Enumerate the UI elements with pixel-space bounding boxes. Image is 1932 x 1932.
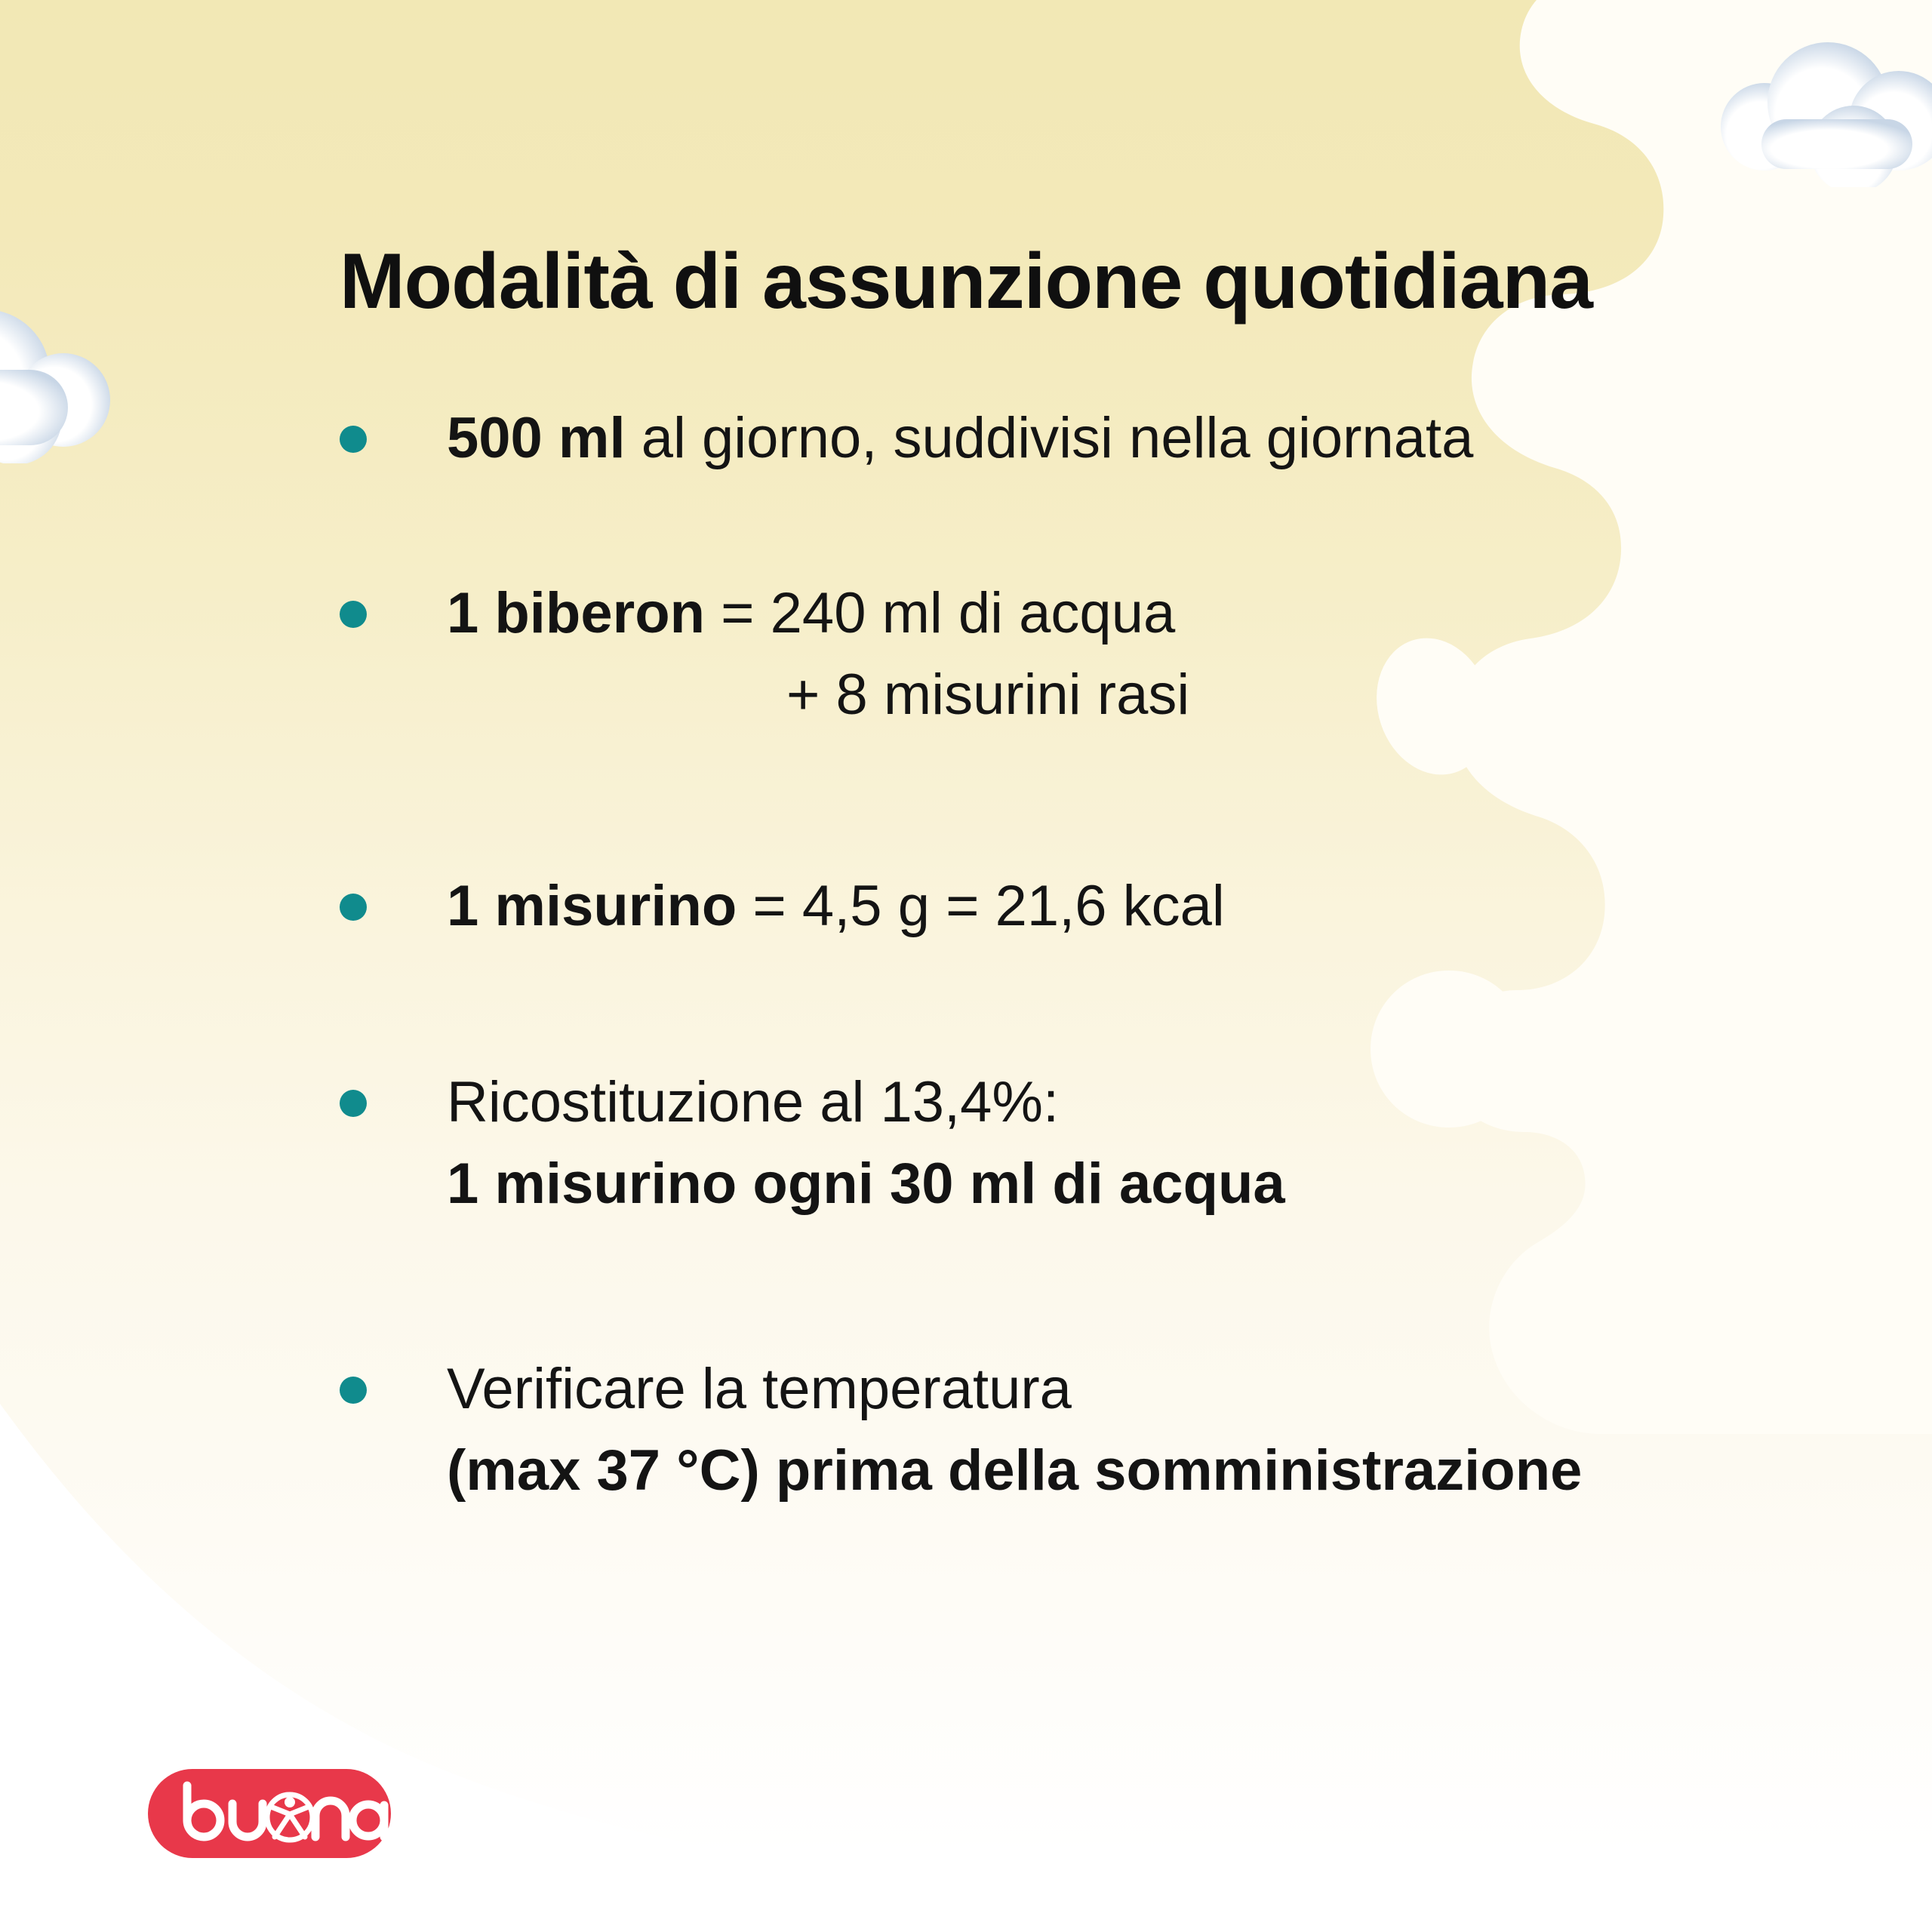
- list-item-text: Verificare la temperatura (max 37 °C) pr…: [447, 1358, 1849, 1502]
- list-item: 1 misurino = 4,5 g = 21,6 kcal: [340, 875, 1849, 937]
- poster-canvas: Modalità di assunzione quotidiana 500 ml…: [0, 0, 1932, 1932]
- list-item-rest: = 4,5 g = 21,6 kcal: [737, 874, 1224, 938]
- list-item: 1 biberon = 240 ml di acqua + 8 misurini…: [340, 583, 1849, 726]
- bullet-dot-icon: [340, 1377, 367, 1404]
- list-item-rest: Verificare la temperatura: [447, 1357, 1072, 1421]
- cloud-icon: [1665, 36, 1932, 187]
- list-item-rest: al giorno, suddivisi nella giornata: [626, 406, 1474, 470]
- page-title: Modalità di assunzione quotidiana: [0, 237, 1932, 327]
- list-item-bold: 500 ml: [447, 406, 626, 470]
- cloud-icon: [0, 305, 219, 463]
- buona-logo[interactable]: [148, 1769, 391, 1858]
- list-item-text: Ricostituzione al 13,4%: 1 misurino ogni…: [447, 1072, 1849, 1215]
- list-item-secondline: (max 37 °C) prima della somministrazione: [447, 1440, 1849, 1502]
- list-item: Ricostituzione al 13,4%: 1 misurino ogni…: [340, 1072, 1849, 1215]
- bullet-dot-icon: [340, 426, 367, 453]
- list-item-text: 1 biberon = 240 ml di acqua + 8 misurini…: [447, 583, 1849, 726]
- list-item: 500 ml al giorno, suddivisi nella giorna…: [340, 408, 1849, 469]
- list-item-secondline: + 8 misurini rasi: [447, 664, 1849, 726]
- list-item-secondline: 1 misurino ogni 30 ml di acqua: [447, 1153, 1849, 1215]
- list-item: Verificare la temperatura (max 37 °C) pr…: [340, 1358, 1849, 1502]
- list-item-text: 1 misurino = 4,5 g = 21,6 kcal: [447, 875, 1849, 937]
- list-item-bold: 1 misurino: [447, 874, 737, 938]
- list-item-bold: 1 biberon: [447, 581, 705, 645]
- bullet-dot-icon: [340, 1090, 367, 1117]
- bullet-dot-icon: [340, 601, 367, 628]
- list-item-rest: = 240 ml di acqua: [705, 581, 1175, 645]
- list-item-rest: Ricostituzione al 13,4%:: [447, 1070, 1059, 1134]
- list-item-text: 500 ml al giorno, suddivisi nella giorna…: [447, 408, 1849, 469]
- bullet-dot-icon: [340, 894, 367, 921]
